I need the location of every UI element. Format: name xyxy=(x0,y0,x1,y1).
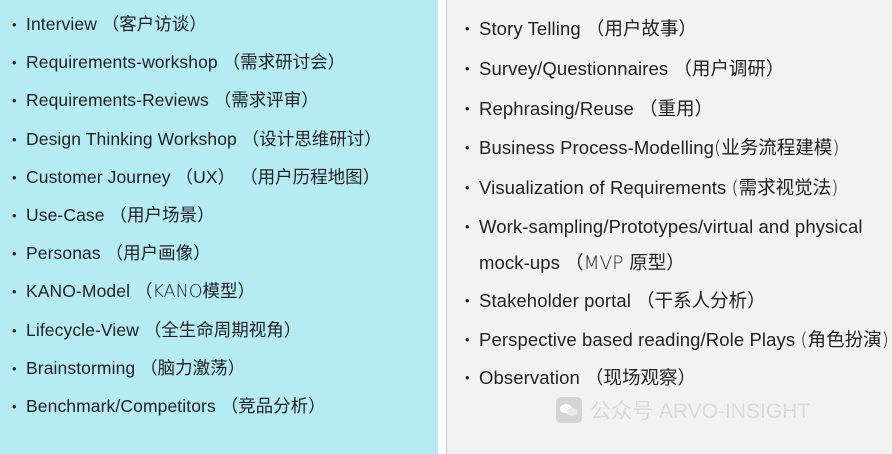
list-item-cjk: (角色扮演) xyxy=(800,330,888,351)
list-item-cjk: （重用） xyxy=(639,99,713,120)
list-item-latin: Requirements-workshop xyxy=(26,52,218,72)
list-item: Personas （用户画像） xyxy=(10,235,438,273)
list-item-latin: Story Telling xyxy=(479,18,581,39)
list-item-latin: Interview xyxy=(26,14,97,34)
list-item-latin: Design Thinking Workshop xyxy=(26,129,237,149)
list-item: Stakeholder portal （干系人分析） xyxy=(463,282,892,322)
list-item-cjk: （全生命周期视角） xyxy=(144,321,302,341)
list-item-cjk: （MVP 原型） xyxy=(565,253,685,274)
list-item-cjk: （用户历程地图） xyxy=(240,168,380,188)
list-item: Lifecycle-View （全生命周期视角） xyxy=(10,312,438,350)
list-item: Business Process-Modelling(业务流程建模) xyxy=(463,129,892,169)
list-item-latin: Requirements-Reviews xyxy=(26,90,209,110)
list-item-latin: Brainstorming xyxy=(26,358,135,378)
list-item-cjk: （竞品分析） xyxy=(221,397,326,417)
list-item-latin: Stakeholder portal xyxy=(479,290,631,311)
left-technique-list: Interview （客户访谈） Requirements-workshop （… xyxy=(0,0,438,426)
list-item-latin: Visualization of Requirements xyxy=(479,177,726,198)
list-item-cjk: （设计思维研讨） xyxy=(242,130,382,150)
list-item: Requirements-Reviews （需求评审） xyxy=(10,82,438,120)
list-item: Customer Journey （UX） （用户历程地图） xyxy=(10,159,438,197)
list-item: Survey/Questionnaires （用户调研） xyxy=(463,50,892,90)
list-item: Benchmark/Competitors （竞品分析） xyxy=(10,388,438,426)
list-item-cjk: （干系人分析） xyxy=(636,291,766,312)
list-item-latin: Survey/Questionnaires xyxy=(479,58,668,79)
list-item: Observation （现场观察） xyxy=(463,359,892,399)
list-item-latin: Business Process-Modelling xyxy=(479,137,714,158)
list-item-latin: Perspective based reading/Role Plays xyxy=(479,329,795,350)
list-item: Perspective based reading/Role Plays (角色… xyxy=(463,322,892,359)
list-item-cjk: （需求研讨会） xyxy=(223,53,346,73)
right-panel: Story Telling （用户故事） Survey/Questionnair… xyxy=(446,0,892,454)
list-item-cjk: (业务流程建模) xyxy=(714,138,839,159)
list-item-latin: KANO-Model xyxy=(26,281,130,301)
list-item: Rephrasing/Reuse （重用） xyxy=(463,90,892,130)
list-item: Visualization of Requirements (需求视觉法) xyxy=(463,169,892,209)
list-item: Design Thinking Workshop （设计思维研讨） xyxy=(10,121,438,159)
list-item: Brainstorming （脑力激荡） xyxy=(10,350,438,388)
list-item: Requirements-workshop （需求研讨会） xyxy=(10,44,438,82)
list-item: KANO-Model （KANO模型） xyxy=(10,273,438,311)
list-item-latin: Observation xyxy=(479,367,580,388)
list-item-latin: Use-Case xyxy=(26,205,105,225)
list-item-cjk: （客户访谈） xyxy=(102,15,207,35)
left-panel: Interview （客户访谈） Requirements-workshop （… xyxy=(0,0,438,454)
list-item-cjk: （用户画像） xyxy=(106,244,211,264)
list-item-cjk: （用户调研） xyxy=(673,59,784,80)
list-item-cjk: （KANO模型） xyxy=(135,282,255,302)
list-item-cjk: （现场观察） xyxy=(585,368,696,389)
list-item-cjk: （需求评审） xyxy=(214,91,319,111)
page-root: Interview （客户访谈） Requirements-workshop （… xyxy=(0,0,892,454)
list-item-latin: Benchmark/Competitors xyxy=(26,396,216,416)
list-item-cjk: （脑力激荡） xyxy=(140,359,245,379)
list-item-latin: Rephrasing/Reuse xyxy=(479,98,634,119)
list-item: Interview （客户访谈） xyxy=(10,6,438,44)
list-item-latin: Lifecycle-View xyxy=(26,320,139,340)
list-item-latin: Customer Journey （UX） xyxy=(26,167,235,187)
list-item-cjk: （用户故事） xyxy=(586,19,697,40)
right-technique-list: Story Telling （用户故事） Survey/Questionnair… xyxy=(447,0,892,399)
list-item: Work-sampling/Prototypes/virtual and phy… xyxy=(463,209,892,282)
list-item: Story Telling （用户故事） xyxy=(463,10,892,50)
list-item-cjk: （用户场景） xyxy=(109,206,214,226)
list-item-cjk: (需求视觉法) xyxy=(731,178,838,199)
list-item: Use-Case （用户场景） xyxy=(10,197,438,235)
list-item-latin: Personas xyxy=(26,243,101,263)
